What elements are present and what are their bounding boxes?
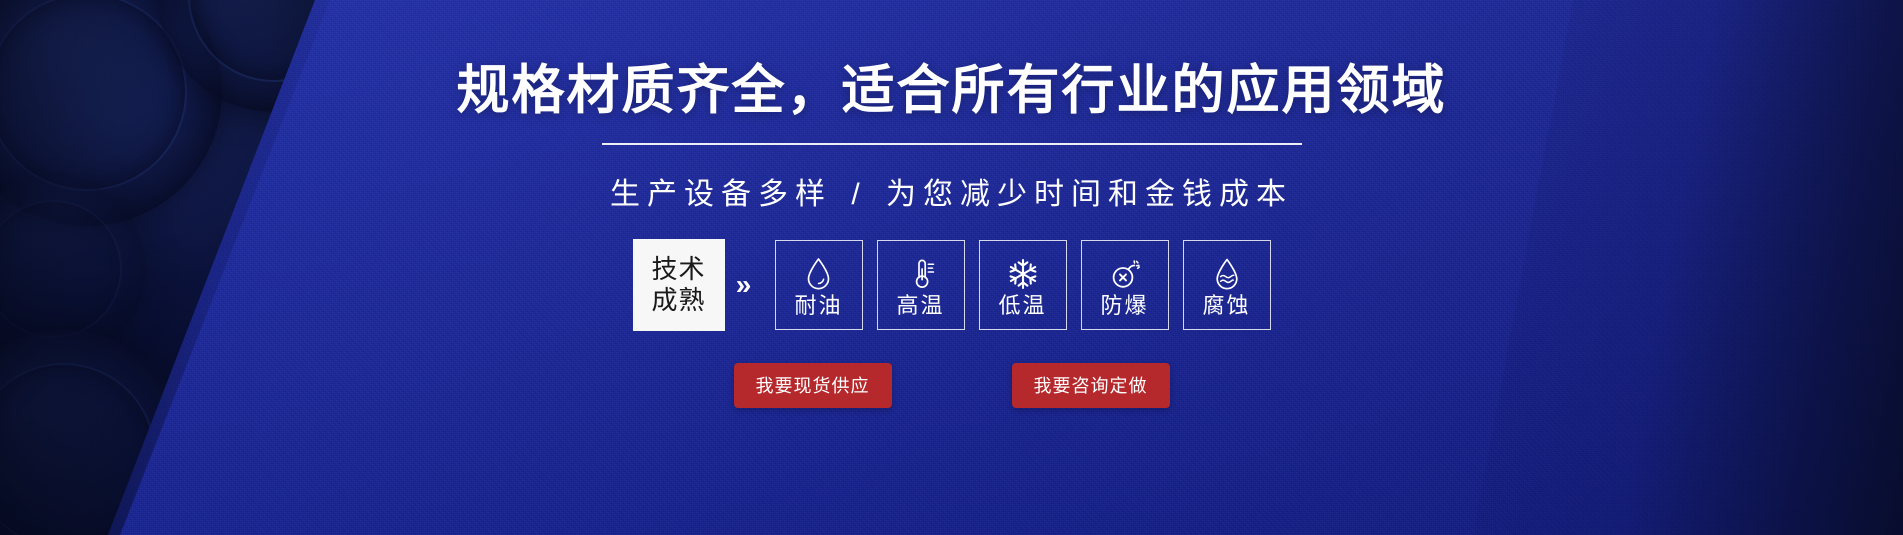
feature-box-high-temperature[interactable]: 高温 bbox=[877, 240, 965, 330]
feature-label: 防爆 bbox=[1100, 295, 1148, 317]
maturity-tag-line-1: 技术 bbox=[651, 254, 705, 285]
promo-banner: 规格材质齐全，适合所有行业的应用领域 生产设备多样 / 为您减少时间和金钱成本 … bbox=[0, 0, 1903, 535]
subtitle-left-text: 生产设备多样 bbox=[610, 178, 832, 211]
feature-box-corrosion[interactable]: 腐蚀 bbox=[1183, 240, 1271, 330]
feature-row: 技术 成熟 » 耐油 bbox=[633, 239, 1271, 331]
snowflake-icon bbox=[1006, 254, 1040, 294]
feature-label: 耐油 bbox=[794, 295, 842, 317]
feature-box-list: 耐油 高温 bbox=[775, 240, 1271, 330]
headline-divider bbox=[602, 143, 1302, 145]
request-custom-order-button[interactable]: 我要咨询定做 bbox=[1012, 363, 1170, 408]
maturity-tag-box: 技术 成熟 bbox=[633, 239, 725, 331]
banner-content: 规格材质齐全，适合所有行业的应用领域 生产设备多样 / 为您减少时间和金钱成本 … bbox=[0, 0, 1903, 535]
feature-label: 腐蚀 bbox=[1202, 295, 1250, 317]
subtitle-separator: / bbox=[847, 178, 870, 211]
oil-drop-icon bbox=[805, 254, 832, 294]
feature-label: 低温 bbox=[998, 295, 1046, 317]
request-stock-supply-button[interactable]: 我要现货供应 bbox=[734, 363, 892, 408]
corrosion-drop-icon bbox=[1213, 254, 1241, 294]
feature-box-explosion-proof[interactable]: 防爆 bbox=[1081, 240, 1169, 330]
bomb-explosion-icon bbox=[1109, 254, 1141, 294]
banner-subtitle: 生产设备多样 / 为您减少时间和金钱成本 bbox=[610, 169, 1293, 213]
cta-button-group: 我要现货供应 我要咨询定做 bbox=[734, 363, 1170, 408]
feature-label: 高温 bbox=[896, 295, 944, 317]
maturity-tag-line-2: 成熟 bbox=[651, 285, 705, 316]
banner-headline: 规格材质齐全，适合所有行业的应用领域 bbox=[457, 64, 1447, 117]
subtitle-right-text: 为您减少时间和金钱成本 bbox=[886, 178, 1293, 211]
feature-box-low-temperature[interactable]: 低温 bbox=[979, 240, 1067, 330]
thermometer-hot-icon bbox=[906, 254, 936, 294]
double-chevron-right-icon: » bbox=[725, 269, 761, 301]
feature-box-oil[interactable]: 耐油 bbox=[775, 240, 863, 330]
